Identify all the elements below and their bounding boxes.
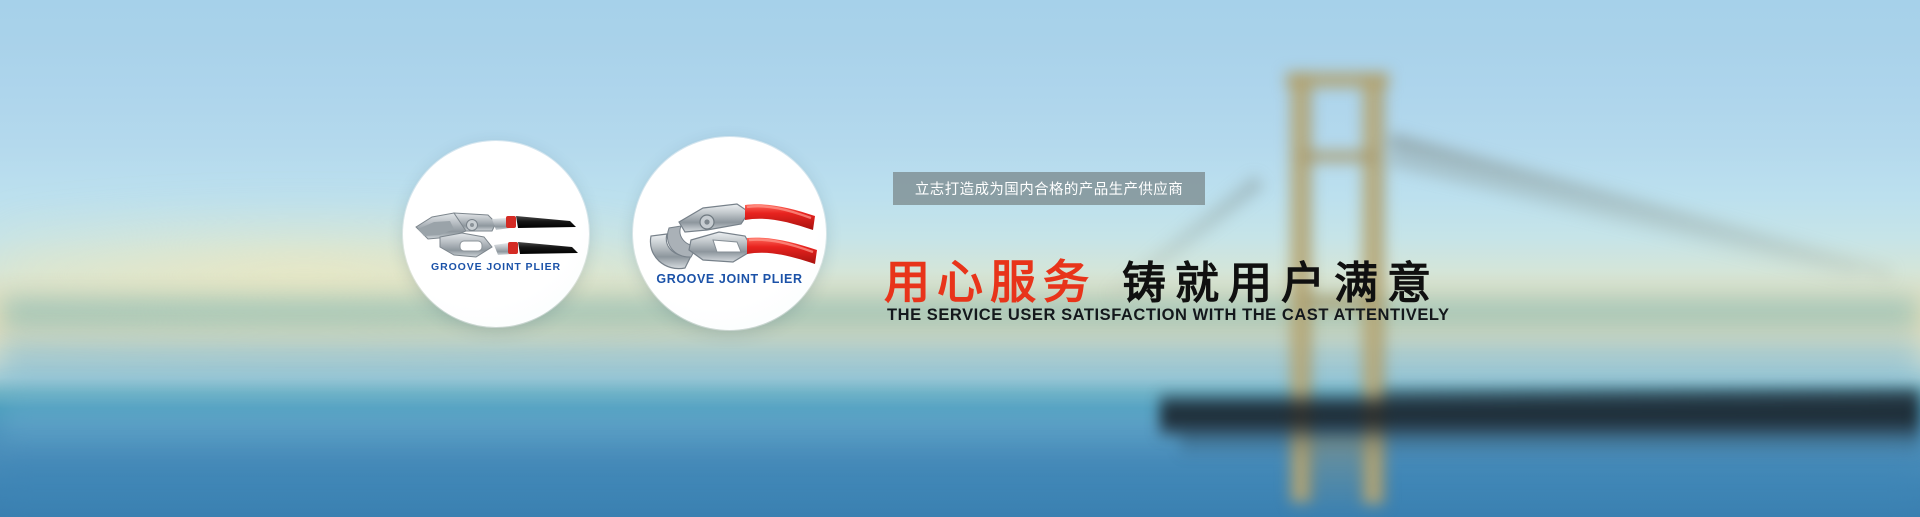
- headline-secondary-text: 铸就用户满意: [1122, 247, 1440, 311]
- groove-joint-plier-icon: [633, 177, 826, 287]
- promo-banner: GROOVE JOINT PLIER: [0, 0, 1920, 517]
- product-label: GROOVE JOINT PLIER: [431, 261, 561, 273]
- bridge-deck: [1160, 394, 1920, 436]
- bridge-reflection: [1290, 436, 1386, 517]
- bridge-cable: [1388, 150, 1858, 282]
- headline: 用心服务 铸就用户满意: [884, 246, 1440, 312]
- product-circle-2[interactable]: GROOVE JOINT PLIER: [633, 137, 826, 330]
- english-tagline: THE SERVICE USER SATISFACTION WITH THE C…: [887, 306, 1450, 325]
- headline-primary-text: 用心服务: [884, 246, 1096, 312]
- subtitle-text: 立志打造成为国内合格的产品生产供应商: [915, 178, 1183, 199]
- product-label: GROOVE JOINT PLIER: [656, 272, 802, 286]
- product-circle-1[interactable]: GROOVE JOINT PLIER: [403, 141, 589, 327]
- bridge-tower-strut: [1300, 150, 1376, 163]
- bridge-tower-cap: [1286, 72, 1389, 88]
- subtitle-bar: 立志打造成为国内合格的产品生产供应商: [893, 172, 1205, 205]
